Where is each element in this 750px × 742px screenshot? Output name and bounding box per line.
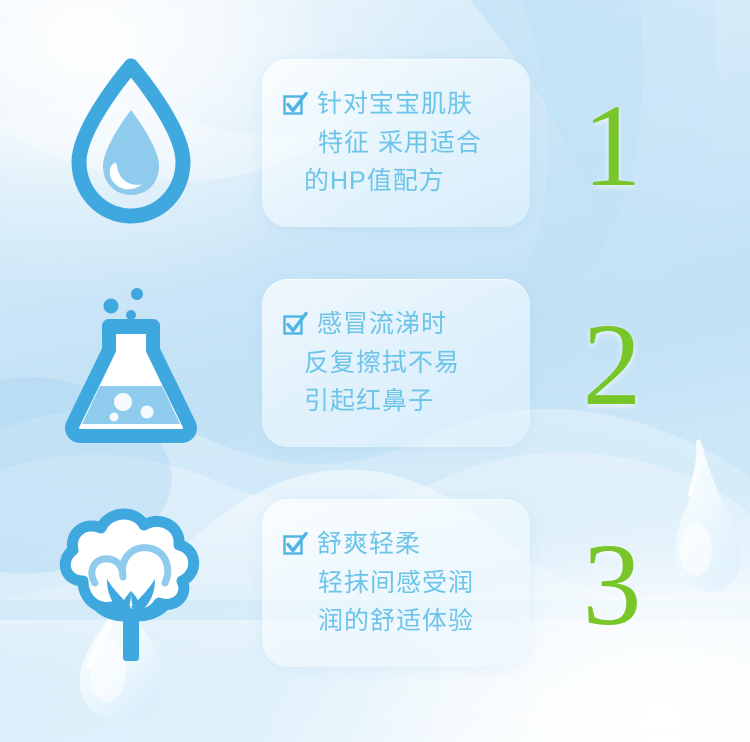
feature-line: 感冒流涕时 <box>282 306 514 343</box>
feature-row-2: 感冒流涕时 反复擦拭不易 引起红鼻子 2 <box>0 258 750 468</box>
step-number-2: 2 <box>552 306 672 424</box>
checkbox-checked-icon <box>282 311 308 337</box>
feature-line: 舒爽轻柔 <box>282 526 514 563</box>
feature-line: 特征 采用适合 <box>282 125 514 162</box>
step-number-3: 3 <box>552 526 672 644</box>
feature-card-2: 感冒流涕时 反复擦拭不易 引起红鼻子 <box>262 279 530 447</box>
feature-line-text: 感冒流涕时 <box>317 306 447 343</box>
feature-line: 反复擦拭不易 <box>282 345 514 382</box>
feature-poster: 针对宝宝肌肤 特征 采用适合 的HP值配方 1 <box>0 0 750 742</box>
lab-flask-icon <box>0 263 262 463</box>
feature-line: 的HP值配方 <box>282 163 514 200</box>
feature-line-text: 润的舒适体验 <box>318 603 474 640</box>
feature-line-text: 引起红鼻子 <box>304 383 434 420</box>
feature-line-text: 舒爽轻柔 <box>317 526 421 563</box>
feature-card-3: 舒爽轻柔 轻抹间感受润 润的舒适体验 <box>262 499 530 667</box>
step-number-1: 1 <box>552 87 672 205</box>
feature-line: 轻抹间感受润 <box>282 565 514 602</box>
feature-line: 针对宝宝肌肤 <box>282 86 514 123</box>
feature-row-3: 舒爽轻柔 轻抹间感受润 润的舒适体验 3 <box>0 478 750 688</box>
feature-line-text: 轻抹间感受润 <box>318 565 474 602</box>
feature-line-text: 针对宝宝肌肤 <box>317 86 473 123</box>
feature-card-1: 针对宝宝肌肤 特征 采用适合 的HP值配方 <box>262 59 530 227</box>
feature-line: 润的舒适体验 <box>282 603 514 640</box>
checkbox-checked-icon <box>282 531 308 557</box>
feature-row-1: 针对宝宝肌肤 特征 采用适合 的HP值配方 1 <box>0 38 750 248</box>
feature-line-text: 反复擦拭不易 <box>304 345 460 382</box>
cotton-boll-icon <box>0 483 262 683</box>
feature-line-text: 特征 采用适合 <box>318 125 482 162</box>
checkbox-checked-icon <box>282 91 308 117</box>
water-drop-icon <box>0 43 262 243</box>
feature-line: 引起红鼻子 <box>282 383 514 420</box>
feature-line-text: 的HP值配方 <box>304 163 445 200</box>
